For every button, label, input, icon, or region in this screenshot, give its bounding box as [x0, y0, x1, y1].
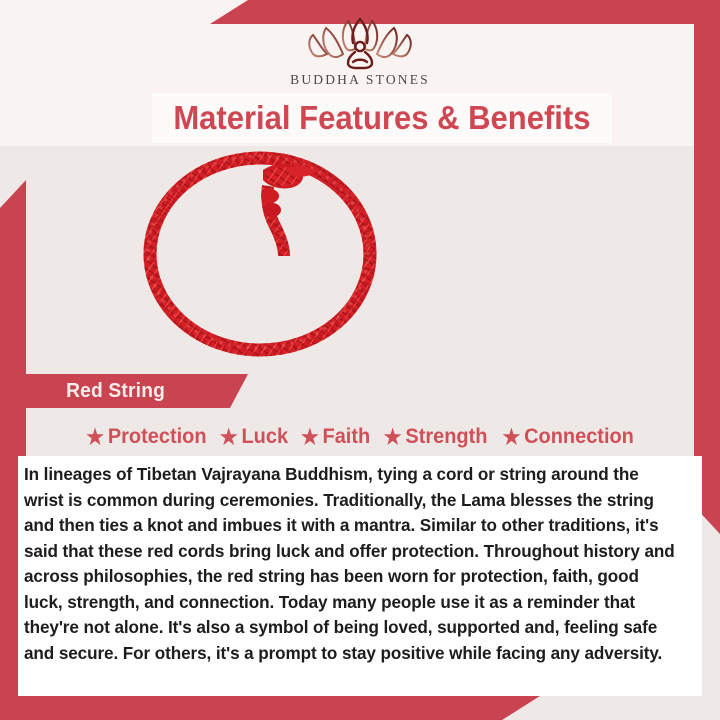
- star-icon: ★: [86, 427, 104, 448]
- material-banner-label: Red String: [66, 380, 165, 403]
- infographic-card: BUDDHA STONES Material Features & Benefi…: [0, 0, 720, 720]
- lotus-meditation-icon: [301, 14, 419, 70]
- description-panel: In lineages of Tibetan Vajrayana Buddhis…: [18, 456, 702, 696]
- brand-logo: BUDDHA STONES: [0, 14, 720, 92]
- benefit-label: Protection: [107, 425, 206, 449]
- benefit-label: Luck: [242, 425, 289, 449]
- benefit-luck: ★ Luck: [220, 425, 288, 449]
- decorative-bottom-red-band: [0, 696, 540, 720]
- star-icon: ★: [384, 427, 402, 448]
- brand-name: BUDDHA STONES: [290, 72, 430, 88]
- star-icon: ★: [220, 427, 238, 448]
- page-title: Material Features & Benefits: [173, 99, 590, 137]
- material-banner: Red String: [26, 374, 248, 408]
- star-icon: ★: [301, 427, 319, 448]
- benefit-faith: ★ Faith: [301, 425, 370, 449]
- description-text: In lineages of Tibetan Vajrayana Buddhis…: [24, 462, 678, 666]
- benefits-row: ★ Protection ★ Luck ★ Faith ★ Strength ★…: [26, 418, 694, 456]
- benefit-strength: ★ Strength: [384, 425, 488, 449]
- benefit-label: Strength: [405, 425, 487, 449]
- product-image: [26, 146, 694, 374]
- star-icon: ★: [503, 427, 521, 448]
- page-title-plate: Material Features & Benefits: [152, 93, 612, 143]
- benefit-label: Connection: [524, 425, 634, 449]
- benefit-connection: ★ Connection: [503, 425, 634, 449]
- benefit-protection: ★ Protection: [86, 425, 206, 449]
- benefit-label: Faith: [323, 425, 371, 449]
